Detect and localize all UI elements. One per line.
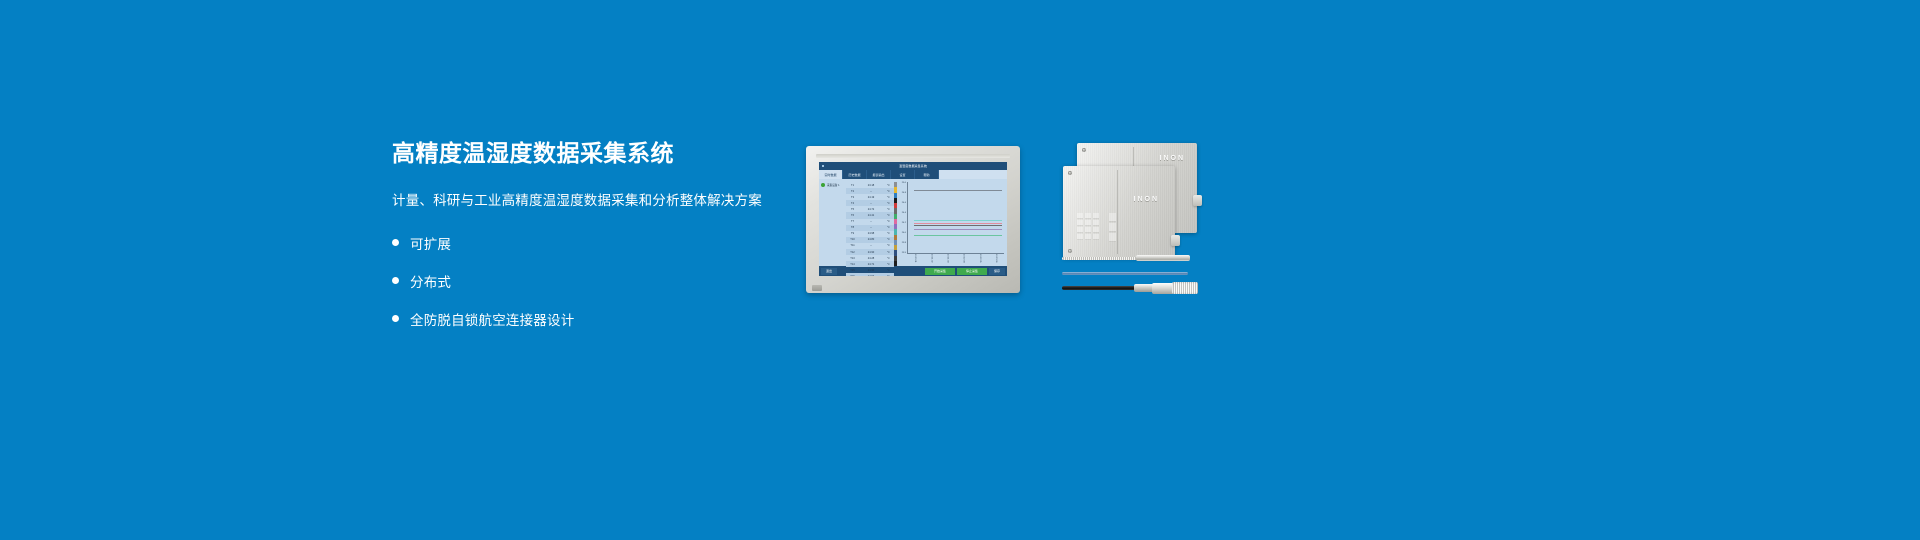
- emboss-cell: [1093, 234, 1099, 239]
- emboss-cell: [1109, 233, 1116, 241]
- probe-tip: [1136, 255, 1190, 261]
- y-axis-tick: 24.4: [897, 212, 907, 214]
- chart-series-line: [914, 229, 1002, 230]
- cell-unit: ℃: [883, 244, 894, 247]
- cell-value: 23.18: [859, 184, 883, 187]
- banner-text-block: 高精度温湿度数据采集系统 计量、科研与工业高精度温湿度数据采集和分析整体解决方案…: [392, 140, 792, 347]
- monitor-foot: [812, 285, 822, 291]
- page-title: 高精度温湿度数据采集系统: [392, 140, 792, 168]
- bullet-dot-icon: [392, 239, 399, 246]
- x-axis-tick: 10:20:31: [914, 254, 916, 265]
- feature-label: 全防脱自锁航空连接器设计: [410, 309, 574, 329]
- cell-channel: T1: [846, 184, 859, 187]
- emboss-cell: [1109, 223, 1116, 231]
- list-item: 全防脱自锁航空连接器设计: [392, 309, 792, 329]
- emboss-cell: [1085, 234, 1091, 239]
- aviation-connector-head: [1172, 282, 1198, 294]
- cell-value: 24.72: [859, 208, 883, 211]
- cell-channel: T8: [846, 226, 859, 229]
- y-axis-tick: 23.5: [897, 252, 907, 254]
- cell-value: --: [859, 220, 883, 223]
- panel-pc-device: 温湿度数据采集系统 实时数据 历史数据 报表输出 设置 帮助 采集设备 1 T1…: [806, 146, 1020, 293]
- module-front: INON: [1063, 166, 1175, 258]
- cell-channel: T3: [846, 196, 859, 199]
- screw-icon: [1082, 148, 1086, 152]
- chart-series-line: [914, 235, 1002, 236]
- connector-port: [1193, 195, 1202, 206]
- cell-unit: ℃: [883, 263, 894, 266]
- cell-channel: T16: [846, 275, 859, 276]
- realtime-chart: 25.024.824.624.424.224.023.823.5 10:20:3…: [897, 179, 1007, 266]
- brand-logo: INON: [1160, 155, 1186, 162]
- cell-unit: ℃: [883, 257, 894, 260]
- app-title: 温湿度数据采集系统: [819, 162, 1007, 170]
- cell-channel: T2: [846, 190, 859, 193]
- cell-unit: ℃: [883, 196, 894, 199]
- app-body: 采集设备 1 T1 23.18 ℃ T2 -- ℃ T3 24.19 ℃: [819, 179, 1007, 266]
- tab-history[interactable]: 历史数据: [843, 170, 867, 179]
- feature-list: 可扩展 分布式 全防脱自锁航空连接器设计: [392, 233, 792, 329]
- tab-bar-filler: [939, 170, 1007, 179]
- chart-series-line: [914, 190, 1002, 191]
- cell-value: 24.90: [859, 269, 883, 272]
- chart-x-axis: 10:20:3110:21:0210:21:3310:22:0410:22:35…: [907, 254, 1004, 265]
- cell-unit: ℃: [883, 190, 894, 193]
- stop-acquisition-button[interactable]: 停止采集: [957, 268, 987, 275]
- probe-cable: [1062, 286, 1138, 290]
- cell-unit: ℃: [883, 251, 894, 254]
- cell-value: 24.41: [859, 214, 883, 217]
- screw-icon: [1068, 171, 1072, 175]
- emboss-cell: [1077, 227, 1083, 232]
- cell-channel: T5: [846, 208, 859, 211]
- cell-value: --: [859, 226, 883, 229]
- cell-unit: ℃: [883, 220, 894, 223]
- sensor-probes: [1062, 253, 1208, 298]
- y-axis-tick: 24.2: [897, 222, 907, 224]
- emboss-cell: [1077, 213, 1083, 218]
- cell-unit: ℃: [883, 238, 894, 241]
- emboss-cell: [1077, 220, 1083, 225]
- chart-plot-area: [907, 182, 1004, 254]
- cell-channel: T12: [846, 251, 859, 254]
- list-item: 可扩展: [392, 233, 792, 253]
- connector-port: [1171, 235, 1180, 246]
- list-item: 分布式: [392, 271, 792, 291]
- start-acquisition-button[interactable]: 开始采集: [925, 268, 955, 275]
- cell-channel: T15: [846, 269, 859, 272]
- exit-button[interactable]: 退出: [821, 268, 837, 275]
- chart-series-line: [914, 220, 1002, 221]
- monitor-screen: 温湿度数据采集系统 实时数据 历史数据 报表输出 设置 帮助 采集设备 1 T1…: [819, 162, 1007, 276]
- cell-value: --: [859, 190, 883, 193]
- y-axis-tick: 24.6: [897, 202, 907, 204]
- emboss-cell: [1077, 234, 1083, 239]
- emboss-cell: [1085, 220, 1091, 225]
- emboss-cell: [1093, 213, 1099, 218]
- app-titlebar: 温湿度数据采集系统: [819, 162, 1007, 170]
- cell-value: 24.90: [859, 251, 883, 254]
- app-tab-bar: 实时数据 历史数据 报表输出 设置 帮助: [819, 170, 1007, 179]
- cell-unit: ℃: [883, 226, 894, 229]
- cell-channel: T7: [846, 220, 859, 223]
- tab-settings[interactable]: 设置: [891, 170, 915, 179]
- cell-unit: ℃: [883, 275, 894, 276]
- cell-channel: T9: [846, 232, 859, 235]
- cell-unit: ℃: [883, 184, 894, 187]
- chart-series-line: [914, 223, 1002, 224]
- x-axis-tick: 10:21:02: [930, 254, 932, 265]
- table-row[interactable]: T16 24.94 ℃: [846, 273, 894, 276]
- cell-channel: T11: [846, 244, 859, 247]
- chart-series-line: [914, 225, 1002, 226]
- bullet-dot-icon: [392, 315, 399, 322]
- x-axis-tick: 10:22:04: [962, 254, 964, 265]
- cell-value: 24.94: [859, 275, 883, 276]
- save-button[interactable]: 保存: [989, 268, 1005, 275]
- blue-cable-probe: [1062, 272, 1188, 275]
- embossed-label-grid: [1077, 213, 1127, 243]
- brand-logo: INON: [1134, 196, 1160, 203]
- page-subtitle: 计量、科研与工业高精度温湿度数据采集和分析整体解决方案: [392, 189, 792, 209]
- cell-value: 24.80: [859, 238, 883, 241]
- bullet-dot-icon: [392, 277, 399, 284]
- cell-unit: ℃: [883, 208, 894, 211]
- cell-value: 24.71: [859, 263, 883, 266]
- emboss-cell: [1085, 213, 1091, 218]
- cell-channel: T10: [846, 238, 859, 241]
- y-axis-tick: 25.0: [897, 182, 907, 184]
- tab-help[interactable]: 帮助: [915, 170, 939, 179]
- monitor-top-strip: [816, 154, 1010, 158]
- cell-channel: T14: [846, 263, 859, 266]
- cell-value: --: [859, 244, 883, 247]
- probe-ferrule: [1134, 284, 1154, 292]
- feature-label: 可扩展: [410, 233, 451, 253]
- emboss-cell: [1093, 227, 1099, 232]
- cell-value: 24.19: [859, 196, 883, 199]
- x-axis-tick: 10:21:33: [946, 254, 948, 265]
- y-axis-tick: 23.8: [897, 242, 907, 244]
- cell-unit: ℃: [883, 214, 894, 217]
- footer-right-group: 开始采集 停止采集 保存: [925, 268, 1005, 275]
- tree-node-label: 采集设备 1: [827, 183, 840, 187]
- cell-unit: ℃: [883, 269, 894, 272]
- tree-node-device[interactable]: 采集设备 1: [821, 183, 844, 187]
- probe-shaft: [1062, 257, 1140, 260]
- cell-value: 24.28: [859, 257, 883, 260]
- chart-y-axis: 25.024.824.624.424.224.023.823.5: [897, 182, 907, 254]
- probe-barrel: [1152, 283, 1174, 294]
- cell-unit: ℃: [883, 202, 894, 205]
- cell-value: --: [859, 202, 883, 205]
- cell-channel: T13: [846, 257, 859, 260]
- y-axis-tick: 24.0: [897, 232, 907, 234]
- x-axis-tick: 10:22:35: [979, 254, 981, 265]
- y-axis-tick: 24.8: [897, 192, 907, 194]
- cell-channel: T6: [846, 214, 859, 217]
- x-axis-tick: 10:23:06: [995, 254, 997, 265]
- emboss-cell: [1093, 220, 1099, 225]
- channel-table[interactable]: T1 23.18 ℃ T2 -- ℃ T3 24.19 ℃ T4 --: [846, 179, 894, 266]
- device-tree-panel: 采集设备 1: [819, 179, 846, 266]
- emboss-cell: [1109, 213, 1116, 221]
- tab-realtime[interactable]: 实时数据: [819, 170, 843, 179]
- feature-label: 分布式: [410, 271, 451, 291]
- tab-report[interactable]: 报表输出: [867, 170, 891, 179]
- emboss-cell: [1085, 227, 1091, 232]
- cell-value: 24.98: [859, 232, 883, 235]
- cell-unit: ℃: [883, 232, 894, 235]
- status-indicator-icon: [821, 183, 825, 187]
- cell-channel: T4: [846, 202, 859, 205]
